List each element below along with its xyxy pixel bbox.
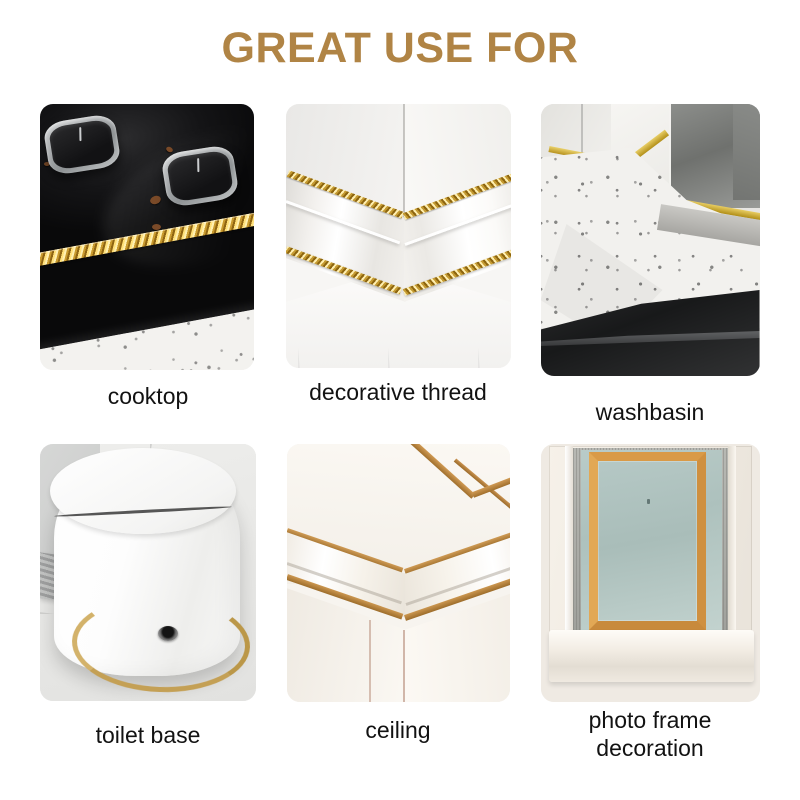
- caption-ceiling: ceiling: [365, 716, 430, 744]
- knob-indicator-icon: [197, 158, 199, 172]
- grid-item-washbasin[interactable]: washbasin: [526, 104, 774, 426]
- wall-corner-edge: [403, 104, 405, 226]
- caption-decorative-thread: decorative thread: [309, 378, 487, 406]
- frame-sill: [549, 630, 754, 682]
- crumb-speck: [152, 224, 161, 230]
- gold-trim-tape: [589, 452, 706, 630]
- toilet-lid: [50, 448, 236, 534]
- toilet-drain-cap: [158, 626, 178, 641]
- grid-item-photo-frame-decoration[interactable]: photo frame decoration: [526, 444, 774, 762]
- grid-item-ceiling[interactable]: ceiling: [270, 444, 526, 744]
- use-case-grid: cooktop decorative thread: [0, 104, 800, 762]
- ceiling-photo: [287, 444, 510, 702]
- grid-row-1: cooktop decorative thread: [0, 104, 800, 426]
- frame-bevel-right: [728, 446, 736, 642]
- grid-row-2: toilet base: [0, 444, 800, 762]
- toilet-base-photo: [40, 444, 256, 701]
- caption-photo-frame-decoration: photo frame decoration: [589, 706, 712, 762]
- decorative-thread-photo: [286, 104, 511, 368]
- caption-toilet-base: toilet base: [96, 721, 201, 749]
- photo-frame-photo: [541, 444, 760, 702]
- grid-item-decorative-thread[interactable]: decorative thread: [270, 104, 526, 406]
- grid-item-toilet-base[interactable]: toilet base: [26, 444, 270, 749]
- caption-cooktop: cooktop: [108, 382, 189, 410]
- caption-washbasin: washbasin: [596, 398, 705, 426]
- cooktop-photo: [40, 104, 254, 370]
- panel-speck: [647, 499, 650, 504]
- mirror-panel: [733, 104, 760, 200]
- grid-item-cooktop[interactable]: cooktop: [26, 104, 270, 410]
- wall-corner-edge: [403, 630, 405, 702]
- wall-panel-edge: [369, 620, 371, 702]
- knob-indicator-icon: [79, 127, 81, 141]
- frame-bevel-left: [565, 446, 573, 642]
- page-title: GREAT USE FOR: [0, 24, 800, 73]
- washbasin-photo: [541, 104, 760, 376]
